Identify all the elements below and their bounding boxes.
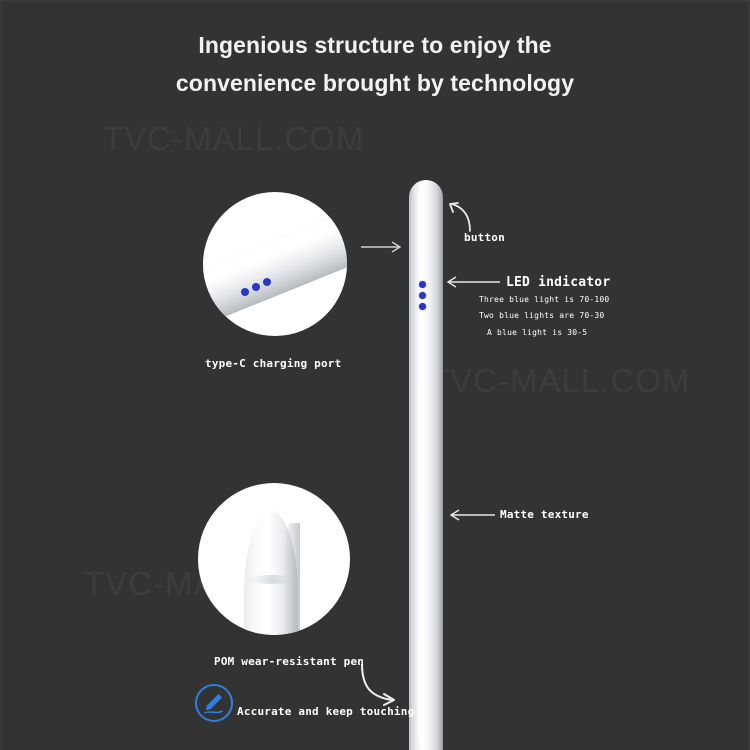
callout-button-label: button	[464, 231, 505, 244]
pen-icon	[197, 686, 231, 720]
arrow-left-icon	[451, 510, 495, 520]
detail-circle-pen-tip	[198, 483, 350, 635]
callout-pom-pen-label: POM wear-resistant pen	[214, 655, 364, 668]
callout-type-c-port-label: type-C charging port	[205, 357, 341, 370]
watermark: TVC-MALL.COM	[429, 362, 690, 400]
led-dot	[419, 281, 426, 288]
curved-arrow-down-right-icon	[362, 664, 394, 705]
stylus-body	[409, 180, 443, 750]
title-line-1: Ingenious structure to enjoy the	[0, 26, 750, 64]
product-infographic: TVC-MALL.COM TVC-MALL.COM TVC-MALL.COM I…	[0, 0, 750, 750]
led-dot	[241, 288, 249, 296]
led-spec-line-3: A blue light is 30-5	[487, 328, 587, 337]
stylus-barrel-closeup	[203, 198, 347, 333]
callout-matte-texture-label: Matte texture	[500, 508, 589, 521]
title-line-2: convenience brought by technology	[0, 64, 750, 102]
led-spec-line-2: Two blue lights are 70-30	[479, 311, 604, 320]
arrow-right-icon	[361, 242, 400, 252]
led-dot	[419, 303, 426, 310]
stylus-highlight	[417, 188, 424, 744]
arrow-left-icon	[448, 277, 500, 287]
callout-led-indicator-label: LED indicator	[506, 275, 610, 290]
led-dot	[263, 278, 271, 286]
watermark: TVC-MALL.COM	[103, 120, 364, 158]
led-dot	[419, 292, 426, 299]
curved-arrow-up-left-icon	[450, 203, 470, 231]
page-title: Ingenious structure to enjoy the conveni…	[0, 26, 750, 102]
led-spec-line-1: Three blue light is 70-100	[479, 295, 609, 304]
detail-circle-charging-port	[203, 192, 347, 336]
accurate-touch-badge	[195, 684, 233, 722]
led-dot	[252, 283, 260, 291]
accurate-touch-label: Accurate and keep touching	[237, 705, 414, 718]
pen-tip-ring	[248, 575, 296, 584]
